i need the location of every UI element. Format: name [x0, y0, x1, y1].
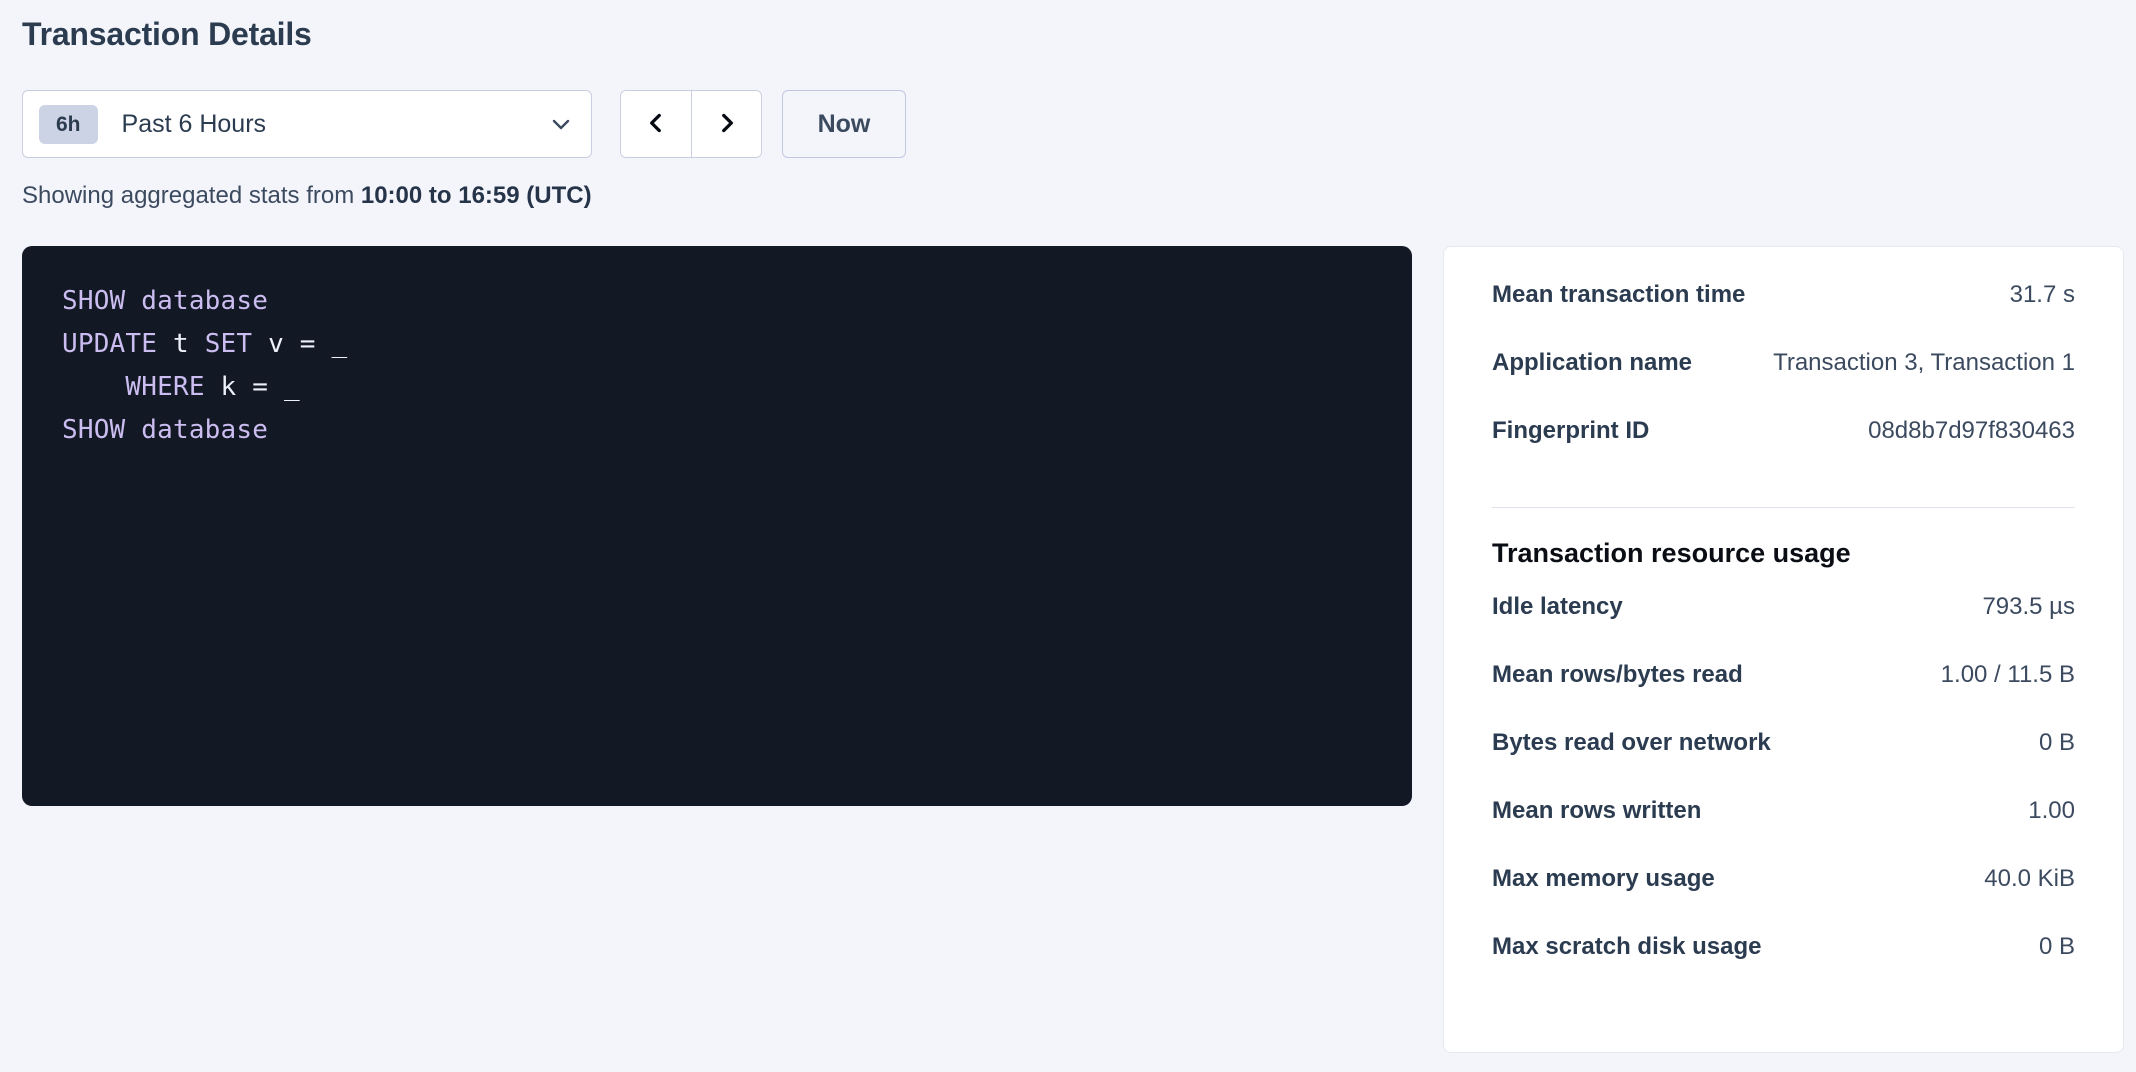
- sql-code-line: UPDATE t SET v = _: [62, 323, 1372, 366]
- sql-keyword: SHOW database: [62, 415, 268, 445]
- transaction-summary-list: Mean transaction time31.7 sApplication n…: [1492, 281, 2075, 485]
- time-nav-group: [620, 90, 762, 158]
- time-range-label: Past 6 Hours: [122, 110, 549, 139]
- sql-identifier: k = _: [205, 372, 300, 402]
- resource-stat-row: Max scratch disk usage0 B: [1492, 933, 2075, 1001]
- sql-identifier: t: [157, 329, 205, 359]
- stat-label: Bytes read over network: [1492, 729, 1771, 757]
- resource-stat-row: Bytes read over network0 B: [1492, 729, 2075, 797]
- stat-value: 1.00 / 11.5 B: [1941, 661, 2075, 689]
- stat-value: 40.0 KiB: [1984, 865, 2075, 893]
- transaction-details-page: Transaction Details 6h Past 6 Hours Now: [0, 0, 2136, 1072]
- stats-divider: [1492, 507, 2075, 508]
- stat-label: Application name: [1492, 349, 1692, 377]
- stat-label: Idle latency: [1492, 593, 1623, 621]
- time-range-badge: 6h: [39, 105, 98, 144]
- summary-stat-row: Application nameTransaction 3, Transacti…: [1492, 349, 2075, 417]
- summary-stat-row: Mean transaction time31.7 s: [1492, 281, 2075, 349]
- sql-keyword: WHERE: [125, 372, 204, 402]
- time-range-select[interactable]: 6h Past 6 Hours: [22, 90, 592, 158]
- chevron-left-icon: [643, 110, 669, 139]
- stat-value: 0 B: [2039, 933, 2075, 961]
- stat-value: 08d8b7d97f830463: [1868, 417, 2075, 445]
- stat-label: Mean rows written: [1492, 797, 1701, 825]
- stat-label: Mean transaction time: [1492, 281, 1745, 309]
- resource-stat-row: Max memory usage40.0 KiB: [1492, 865, 2075, 933]
- sql-code-line: SHOW database: [62, 280, 1372, 323]
- aggregation-range-prefix: Showing aggregated stats from: [22, 182, 361, 209]
- time-range-toolbar: 6h Past 6 Hours Now: [22, 90, 906, 158]
- now-button[interactable]: Now: [782, 90, 906, 158]
- sql-code-line: WHERE k = _: [62, 366, 1372, 409]
- stat-label: Fingerprint ID: [1492, 417, 1649, 445]
- stat-value: 793.5 µs: [1982, 593, 2075, 621]
- sql-keyword: UPDATE: [62, 329, 157, 359]
- page-title: Transaction Details: [22, 16, 312, 53]
- resource-stat-row: Idle latency793.5 µs: [1492, 593, 2075, 661]
- sql-statement-card: SHOW databaseUPDATE t SET v = _ WHERE k …: [22, 246, 1412, 806]
- sql-identifier: v = _: [252, 329, 347, 359]
- previous-period-button[interactable]: [621, 91, 691, 157]
- transaction-stats-card: Mean transaction time31.7 sApplication n…: [1443, 246, 2124, 1053]
- sql-keyword: SHOW database: [62, 286, 268, 316]
- resource-stat-row: Mean rows/bytes read1.00 / 11.5 B: [1492, 661, 2075, 729]
- stat-value: 0 B: [2039, 729, 2075, 757]
- next-period-button[interactable]: [691, 91, 761, 157]
- resource-stat-row: Mean rows written1.00: [1492, 797, 2075, 865]
- sql-statement-code[interactable]: SHOW databaseUPDATE t SET v = _ WHERE k …: [62, 280, 1372, 452]
- stat-value: Transaction 3, Transaction 1: [1773, 349, 2075, 377]
- resource-usage-list: Idle latency793.5 µsMean rows/bytes read…: [1492, 593, 2075, 1001]
- chevron-right-icon: [714, 110, 740, 139]
- stat-label: Max scratch disk usage: [1492, 933, 1761, 961]
- summary-stat-row: Fingerprint ID08d8b7d97f830463: [1492, 417, 2075, 485]
- stat-label: Max memory usage: [1492, 865, 1715, 893]
- chevron-down-icon: [549, 112, 573, 136]
- stat-value: 31.7 s: [2010, 281, 2075, 309]
- aggregation-range-value: 10:00 to 16:59 (UTC): [361, 182, 592, 209]
- sql-keyword: SET: [205, 329, 253, 359]
- aggregation-range-text: Showing aggregated stats from 10:00 to 1…: [22, 182, 592, 210]
- stat-label: Mean rows/bytes read: [1492, 661, 1743, 689]
- sql-code-line: SHOW database: [62, 409, 1372, 452]
- resource-usage-title: Transaction resource usage: [1492, 538, 2075, 569]
- stat-value: 1.00: [2028, 797, 2075, 825]
